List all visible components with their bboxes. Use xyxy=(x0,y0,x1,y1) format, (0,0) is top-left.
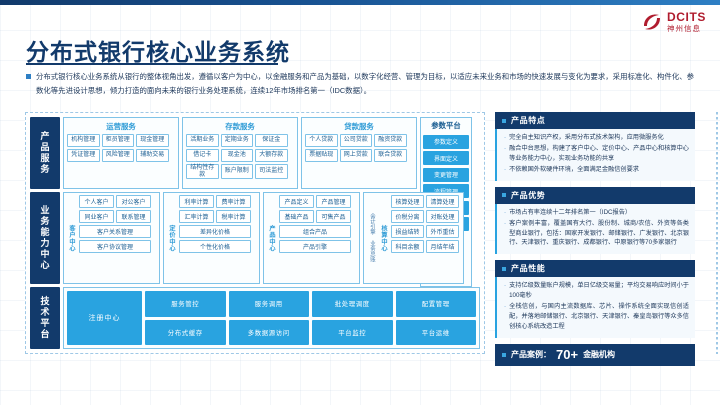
capability-chip[interactable]: 组合产品 xyxy=(279,225,351,238)
group-title: 存款服务 xyxy=(186,121,294,132)
tech-chip[interactable]: 服务管控 xyxy=(145,291,226,317)
list-item-text: 不依赖国外软硬件环境，全面满足金融信创要求 xyxy=(509,165,639,175)
panel-product-advantages: 产品优势 ·市场占有率连续十二年排名第一（IDC报告） ·客户案例丰富，覆盖国有… xyxy=(495,187,695,255)
list-item: ·市场占有率连续十二年排名第一（IDC报告） xyxy=(504,208,689,218)
param-chip[interactable]: 界面定义 xyxy=(423,151,469,165)
top-accent-bar xyxy=(0,0,720,5)
list-item-text: 融合中台思想，构建了客户中心、定价中心、产品中心和核算中心等业务能力中心，实现业… xyxy=(509,144,689,164)
center-name: 产品中心 xyxy=(266,195,277,281)
service-chip[interactable]: 大额存款 xyxy=(255,149,288,162)
parameter-platform-title: 参数平台 xyxy=(423,120,469,131)
service-chip[interactable]: 个人贷款 xyxy=(305,134,338,147)
service-chip[interactable]: 定期业务 xyxy=(221,134,254,147)
capability-chip[interactable]: 月结年结 xyxy=(426,240,459,253)
intro-paragraph: 分布式银行核心业务系统从银行的整体视角出发，遵循以客户为中心，以金融服务和产品为… xyxy=(26,70,694,97)
layer-label-product-services: 产品服务 xyxy=(30,117,60,189)
tech-chip[interactable]: 平台监控 xyxy=(312,320,393,346)
list-item-text: 市场占有率连续十二年排名第一（IDC报告） xyxy=(509,208,631,218)
list-item-text: 支持亿级数量账户规模，单日亿级交易量；平均交易响应时间小于100毫秒 xyxy=(509,281,689,301)
panel-product-performance: 产品性能 ·支持亿级数量账户规模，单日亿级交易量；平均交易响应时间小于100毫秒… xyxy=(495,260,695,338)
service-chip[interactable]: 融资贷款 xyxy=(374,134,407,147)
register-center-chip[interactable]: 注册中心 xyxy=(67,291,142,345)
layer-label-business-capability: 业务能力中心 xyxy=(30,192,60,284)
list-item: ·支持亿级数量账户规模，单日亿级交易量；平均交易响应时间小于100毫秒 xyxy=(504,281,689,301)
service-chip[interactable]: 辅助交易 xyxy=(136,149,169,162)
panel-title: 产品优势 xyxy=(511,190,545,201)
capability-chip[interactable]: 可售产品 xyxy=(316,210,351,223)
title-underline xyxy=(26,63,278,65)
service-chip[interactable]: 联合贷款 xyxy=(374,149,407,162)
panel-header: 产品性能 xyxy=(495,260,695,277)
bullet-square-icon xyxy=(502,353,506,357)
list-item: ·全栈信创，与国内主流数据库、芯片、操作系统全面实现信创适配，并落地邮储银行、北… xyxy=(504,302,689,332)
group-title: 运营服务 xyxy=(67,121,175,132)
service-chip[interactable]: 网上贷款 xyxy=(340,149,373,162)
panel-product-features: 产品特点 ·完全自主知识产权，采用分布式技术架构，应用微服务化 ·融合中台思想，… xyxy=(495,112,695,181)
bullet-dot-icon: · xyxy=(504,208,506,218)
panel-title: 产品性能 xyxy=(511,263,545,274)
capability-chip[interactable]: 价税分离 xyxy=(391,210,424,223)
service-chip[interactable]: 机构管理 xyxy=(67,134,100,147)
tech-chip[interactable]: 分布式缓存 xyxy=(145,320,226,346)
center-subtitle: 会计引擎 业务总账 xyxy=(366,195,376,281)
capability-chip[interactable]: 汇率计算 xyxy=(179,210,214,223)
capability-chip[interactable]: 产品管理 xyxy=(316,195,351,208)
group-operation-services: 运营服务 机构管理 柜员管理 现金管理 凭证管理 风险管理 辅助交易 xyxy=(63,117,179,189)
group-deposit-services: 存款服务 活期业务 定期业务 保证金 借记卡 现金池 大额存款 结构性存款 账户… xyxy=(182,117,298,189)
capability-chip[interactable]: 损益结转 xyxy=(391,225,424,238)
layer-technical-platform: 技术平台 注册中心 服务管控 服务调用 批处理调度 配置管理 分布式缓存 多数据… xyxy=(30,287,480,349)
logo-cn-text: 神州信息 xyxy=(667,25,706,33)
logo-en-text: DCITS xyxy=(667,11,706,23)
service-chip[interactable]: 公司贷款 xyxy=(340,134,373,147)
capability-chip[interactable]: 清算处理 xyxy=(426,195,459,208)
param-chip[interactable]: 变更管理 xyxy=(423,168,469,182)
bullet-square-icon xyxy=(502,267,506,271)
bullet-dot-icon: · xyxy=(504,133,506,143)
center-pricing: 定价中心 利率计算 费率计算 汇率计算 税率计算 差异化价格 个性化价格 xyxy=(163,192,260,284)
capability-chip[interactable]: 基础产品 xyxy=(279,210,314,223)
bullet-square-icon xyxy=(502,193,506,197)
layer-product-services: 产品服务 运营服务 机构管理 柜员管理 现金管理 凭证管理 风险管理 辅助交易 … xyxy=(30,117,480,189)
group-title: 贷款服务 xyxy=(305,121,413,132)
layer-business-capability: 业务能力中心 客户中心 个人客户 对公客户 同业客户 联系管理 客户关系管理 客… xyxy=(30,192,480,284)
center-customer: 客户中心 个人客户 对公客户 同业客户 联系管理 客户关系管理 客户协议管理 xyxy=(63,192,160,284)
side-panels: 产品特点 ·完全自主知识产权，采用分布式技术架构，应用微服务化 ·融合中台思想，… xyxy=(495,112,695,366)
service-chip[interactable]: 司法监控 xyxy=(255,164,288,179)
bullet-dot-icon: · xyxy=(504,165,506,175)
capability-chip[interactable]: 对账处理 xyxy=(426,210,459,223)
list-item-text: 全栈信创，与国内主流数据库、芯片、操作系统全面实现信创适配，并落地邮储银行、北京… xyxy=(509,302,689,332)
capability-chip[interactable]: 产品引擎 xyxy=(279,240,351,253)
service-chip[interactable]: 活期业务 xyxy=(186,134,219,147)
bullet-dot-icon: · xyxy=(504,219,506,249)
capability-chip[interactable]: 核算处理 xyxy=(391,195,424,208)
center-name: 核算中心 xyxy=(378,195,389,281)
capability-chip[interactable]: 对公客户 xyxy=(116,195,151,208)
service-chip[interactable]: 风险管理 xyxy=(102,149,135,162)
product-case-banner: 产品案例： 70+ 金融机构 xyxy=(495,344,695,366)
service-chip[interactable]: 保证金 xyxy=(255,134,288,147)
center-name: 定价中心 xyxy=(166,195,177,281)
architecture-diagram: 产品服务 运营服务 机构管理 柜员管理 现金管理 凭证管理 风险管理 辅助交易 … xyxy=(25,112,485,354)
tech-chip[interactable]: 服务调用 xyxy=(229,291,310,317)
center-name: 客户中心 xyxy=(66,195,77,281)
capability-chip[interactable]: 费率计算 xyxy=(216,195,251,208)
service-chip[interactable]: 借记卡 xyxy=(186,149,219,162)
dcits-logo: DCITS 神州信息 xyxy=(641,11,706,33)
case-number: 70+ xyxy=(556,347,578,362)
service-chip[interactable]: 柜员管理 xyxy=(102,134,135,147)
center-product: 产品中心 产品定义 产品管理 基础产品 可售产品 组合产品 产品引擎 xyxy=(263,192,360,284)
capability-chip[interactable]: 客户关系管理 xyxy=(79,225,151,238)
list-item: ·融合中台思想，构建了客户中心、定价中心、产品中心和核算中心等业务能力中心，实现… xyxy=(504,144,689,164)
center-accounting: 会计引擎 业务总账 核算中心 核算处理 清算处理 价税分离 对账处理 损益结转 … xyxy=(363,192,464,284)
tech-chip[interactable]: 配置管理 xyxy=(396,291,477,317)
capability-chip[interactable]: 利率计算 xyxy=(179,195,214,208)
panel-body: ·完全自主知识产权，采用分布式技术架构，应用微服务化 ·融合中台思想，构建了客户… xyxy=(495,129,695,181)
capability-chip[interactable]: 个性化价格 xyxy=(179,240,251,253)
panel-header: 产品优势 xyxy=(495,187,695,204)
intro-text: 分布式银行核心业务系统从银行的整体视角出发，遵循以客户为中心，以金融服务和产品为… xyxy=(36,70,694,97)
capability-chip[interactable]: 个人客户 xyxy=(79,195,114,208)
group-loan-services: 贷款服务 个人贷款 公司贷款 融资贷款 票据贴现 网上贷款 联合贷款 xyxy=(301,117,417,189)
case-suffix: 金融机构 xyxy=(583,349,615,360)
capability-chip[interactable]: 外币重估 xyxy=(426,225,459,238)
service-chip[interactable]: 结构性存款 xyxy=(186,164,219,179)
list-item: ·完全自主知识产权，采用分布式技术架构，应用微服务化 xyxy=(504,133,689,143)
tech-chip[interactable]: 批处理调度 xyxy=(312,291,393,317)
list-item-text: 客户案例丰富，覆盖国有大行、股份制、城商/农信、外资等各类型商业银行，包括：国家… xyxy=(509,219,689,249)
bullet-dot-icon: · xyxy=(504,281,506,301)
service-chip[interactable]: 票据贴现 xyxy=(305,149,338,162)
capability-chip[interactable]: 同业客户 xyxy=(79,210,114,223)
tech-chip[interactable]: 平台运维 xyxy=(396,320,477,346)
list-item: ·客户案例丰富，覆盖国有大行、股份制、城商/农信、外资等各类型商业银行，包括：国… xyxy=(504,219,689,249)
case-label: 产品案例： xyxy=(511,349,551,360)
bullet-square-icon xyxy=(502,119,506,123)
panel-title: 产品特点 xyxy=(511,115,545,126)
capability-chip[interactable]: 客户协议管理 xyxy=(79,240,151,253)
panel-body: ·市场占有率连续十二年排名第一（IDC报告） ·客户案例丰富，覆盖国有大行、股份… xyxy=(495,204,695,255)
param-chip[interactable]: 参数定义 xyxy=(423,135,469,149)
page-title: 分布式银行核心业务系统 xyxy=(26,33,290,67)
right-dotted-edge xyxy=(716,112,718,354)
technical-platform-panel: 注册中心 服务管控 服务调用 批处理调度 配置管理 分布式缓存 多数据源访问 平… xyxy=(63,287,480,349)
list-item: ·不依赖国外软硬件环境，全面满足金融信创要求 xyxy=(504,165,689,175)
bullet-dot-icon: · xyxy=(504,144,506,164)
layer-label-technical-platform: 技术平台 xyxy=(30,287,60,349)
capability-chip[interactable]: 联系管理 xyxy=(116,210,151,223)
logo-swirl-icon xyxy=(641,11,663,33)
bullet-dot-icon: · xyxy=(504,302,506,332)
capability-chip[interactable]: 产品定义 xyxy=(279,195,314,208)
panel-header: 产品特点 xyxy=(495,112,695,129)
list-item-text: 完全自主知识产权，采用分布式技术架构，应用微服务化 xyxy=(509,133,664,143)
panel-body: ·支持亿级数量账户规模，单日亿级交易量；平均交易响应时间小于100毫秒 ·全栈信… xyxy=(495,277,695,338)
service-chip[interactable]: 现金池 xyxy=(221,149,254,162)
capability-chip[interactable]: 科目余额 xyxy=(391,240,424,253)
service-chip[interactable]: 账户限制 xyxy=(221,164,254,179)
capability-chip[interactable]: 差异化价格 xyxy=(179,225,251,238)
bullet-square-icon xyxy=(26,74,31,79)
service-chip[interactable]: 凭证管理 xyxy=(67,149,100,162)
capability-chip[interactable]: 税率计算 xyxy=(216,210,251,223)
tech-chip[interactable]: 多数据源访问 xyxy=(229,320,310,346)
service-chip[interactable]: 现金管理 xyxy=(136,134,169,147)
